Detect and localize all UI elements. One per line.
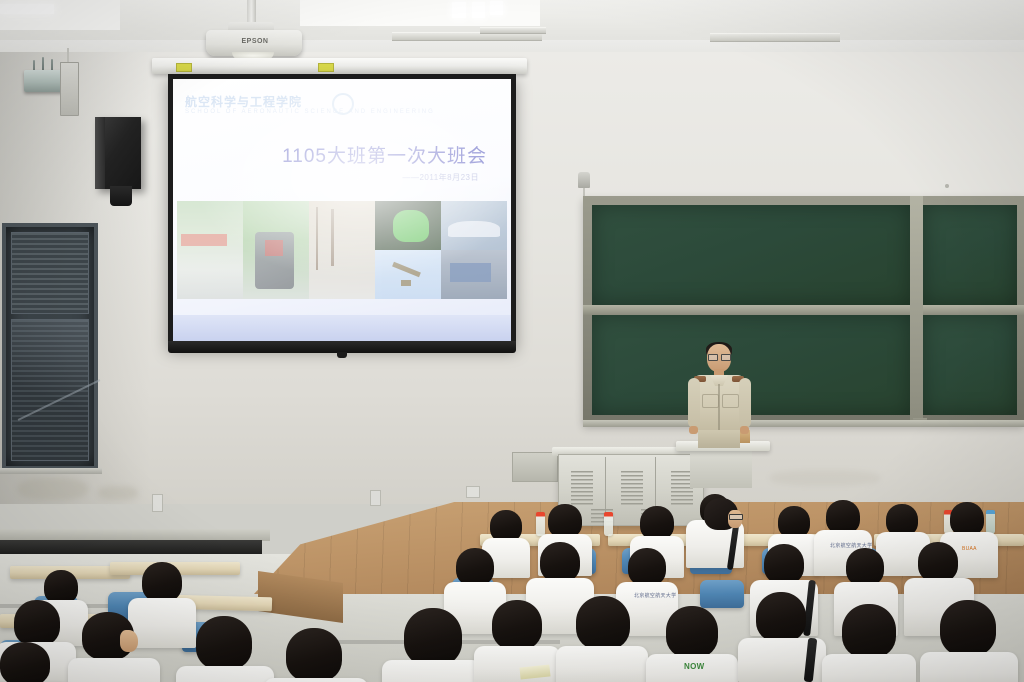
wall-sensor-icon	[578, 172, 590, 188]
standing-presenter	[686, 344, 752, 448]
projector-brand-label: EPSON	[228, 38, 282, 45]
wall-stain	[98, 486, 138, 500]
slide-footer	[173, 315, 511, 341]
water-bottle	[604, 512, 613, 536]
student-head	[576, 596, 630, 650]
window-sill	[0, 468, 102, 474]
blackboard	[583, 196, 1024, 424]
student-shirt	[68, 658, 160, 682]
student-shirt	[264, 678, 368, 682]
student-head	[492, 600, 542, 650]
student-head	[286, 628, 342, 682]
ceiling-vent	[480, 27, 546, 34]
collage-photo	[309, 201, 375, 299]
ceiling-panel	[300, 0, 540, 26]
water-bottle	[536, 512, 545, 536]
student-shirt	[920, 652, 1018, 682]
shirt-logo-text: NOW	[684, 662, 704, 671]
floor-trim	[0, 540, 262, 554]
student-shirt	[822, 654, 916, 682]
shirt-logo-text: BUAA	[962, 546, 977, 552]
student-shirt	[176, 666, 274, 682]
student-head	[142, 562, 182, 602]
ceiling-light	[0, 4, 54, 14]
housing-sticker	[176, 63, 192, 72]
ceiling-strip-light	[710, 33, 840, 42]
window-reflection	[18, 379, 101, 420]
screen-bottom-bar	[168, 341, 516, 353]
cabinet-vent	[571, 471, 593, 505]
student-head	[540, 542, 580, 582]
louvered-window	[2, 223, 98, 470]
wall-outlet	[152, 494, 163, 512]
student-head	[404, 608, 462, 666]
wall-mounted-box	[60, 62, 79, 116]
cabinet-vent	[621, 471, 643, 505]
speaker-bracket	[110, 186, 132, 206]
collage-photo	[243, 201, 309, 299]
blackboard-divider	[910, 196, 923, 424]
student-head	[764, 544, 804, 584]
student-head	[940, 600, 996, 656]
student-chair[interactable]	[700, 580, 744, 608]
student-shirt	[382, 660, 482, 682]
glasses-icon	[708, 354, 730, 359]
slide-photo-collage	[177, 201, 507, 299]
ceiling-light	[452, 2, 466, 18]
water-bottle	[986, 510, 995, 534]
cabinet-side-niche	[512, 452, 558, 482]
slide-logo-icon	[332, 93, 354, 115]
student-head	[196, 616, 252, 670]
ceiling-light	[472, 2, 485, 18]
slide-date: ——2011年8月23日	[173, 172, 479, 183]
student-head	[842, 604, 896, 658]
student-head	[0, 642, 50, 682]
student-head	[950, 502, 984, 536]
slide-org-header: 航空科学与工程学院	[185, 93, 302, 110]
presenter-pocket	[722, 394, 739, 408]
student-head	[640, 506, 674, 540]
screen-housing	[152, 58, 527, 74]
student-head	[14, 600, 60, 646]
ceiling-light	[490, 1, 503, 15]
wall-outlet	[466, 486, 480, 498]
presenter-pocket	[702, 394, 719, 408]
student-head	[918, 542, 958, 582]
student-head	[548, 504, 582, 538]
lecture-hall-photo: EPSON 航空科学与工程学院 SCHOOL OF AERONAUTIC SCI…	[0, 0, 1024, 682]
student-head	[826, 500, 860, 534]
student-head	[44, 570, 78, 604]
wall-stain	[18, 478, 88, 500]
projection-screen: 航空科学与工程学院 SCHOOL OF AERONAUTIC SCIENCE A…	[173, 79, 511, 341]
chalk-ledge	[583, 420, 1024, 427]
collage-photo-stack	[375, 201, 441, 299]
lectern-body	[690, 450, 752, 488]
window-lower-louvers	[11, 319, 89, 461]
wall-stain	[770, 470, 880, 486]
housing-sticker	[318, 63, 334, 72]
student-head	[628, 548, 666, 586]
collage-photo-stack	[441, 201, 507, 299]
blackboard-panel	[923, 315, 1017, 415]
presenter-arm	[688, 378, 700, 428]
student-head	[756, 592, 806, 642]
shirt-logo-text: 北京航空航天大学	[634, 592, 676, 599]
wall-outlet	[370, 490, 381, 506]
slide-org-subheader: SCHOOL OF AERONAUTIC SCIENCE AND ENGINEE…	[185, 109, 435, 115]
student-head	[846, 548, 884, 586]
presenter-arm	[739, 378, 751, 428]
collage-photo	[177, 201, 243, 299]
window-upper-louvers	[11, 232, 89, 314]
presenter-hand	[689, 426, 698, 434]
slide-title: 1105大班第一次大班会	[173, 141, 487, 168]
presenter-hand	[740, 426, 749, 434]
student-face	[120, 630, 138, 652]
student-shirt	[556, 646, 648, 682]
student-head	[456, 548, 494, 586]
student-shirt	[128, 598, 196, 648]
blackboard-rail	[583, 305, 1024, 315]
student-head	[666, 606, 718, 658]
presenter-lower-body	[698, 430, 740, 448]
wall-screw	[945, 184, 949, 188]
blackboard-panel	[923, 205, 1017, 305]
blackboard-panel	[592, 205, 910, 305]
speaker-grille	[95, 117, 105, 189]
glasses-icon	[729, 514, 743, 520]
